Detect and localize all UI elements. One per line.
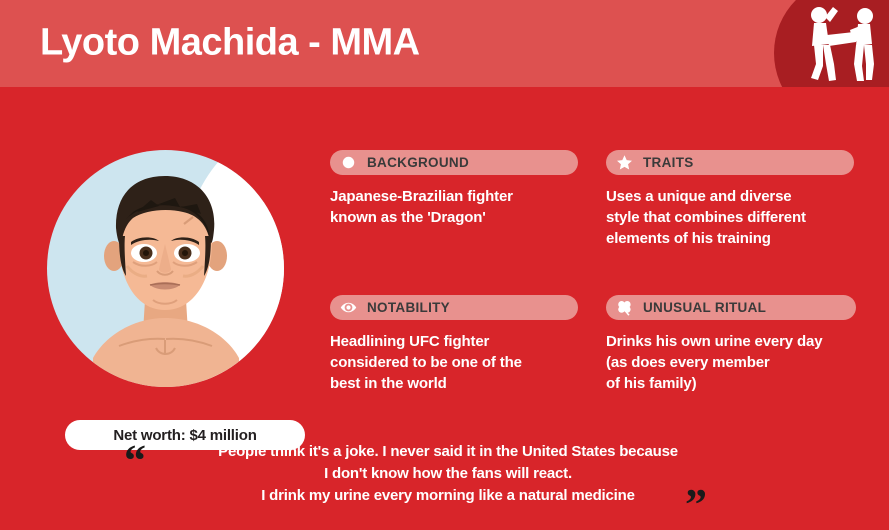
circle-icon (340, 154, 357, 171)
star-icon (616, 154, 633, 171)
fact-label-traits: TRAITS (643, 155, 694, 170)
page-title: Lyoto Machida - MMA (40, 21, 420, 64)
fact-card-unusual-ritual: UNUSUAL RITUAL Drinks his own urine ever… (606, 295, 856, 394)
fact-pill-traits: TRAITS (606, 150, 854, 175)
fact-label-background: BACKGROUND (367, 155, 469, 170)
portrait-illustration (47, 150, 284, 387)
fact-label-notability: NOTABILITY (367, 300, 450, 315)
quote-open-mark: “ (124, 439, 146, 483)
quote-text: People think it's a joke. I never said i… (168, 441, 728, 507)
fact-text-unusual-ritual: Drinks his own urine every day (as does … (606, 331, 856, 394)
fact-text-notability: Headlining UFC fighter considered to be … (330, 331, 580, 394)
quote-close-mark: ” (685, 483, 707, 527)
fact-text-background: Japanese-Brazilian fighter known as the … (330, 186, 580, 228)
fact-pill-background: BACKGROUND (330, 150, 578, 175)
fact-label-unusual-ritual: UNUSUAL RITUAL (643, 300, 766, 315)
fact-card-traits: TRAITS Uses a unique and diverse style t… (606, 150, 856, 249)
content-area: Net worth: $4 million BACKGROUND Japanes… (0, 87, 889, 530)
portrait-circle (47, 150, 284, 387)
page-header: Lyoto Machida - MMA (0, 0, 889, 87)
quote-block: “ People think it's a joke. I never said… (120, 437, 760, 522)
fact-card-notability: NOTABILITY Headlining UFC fighter consid… (330, 295, 580, 394)
fact-pill-notability: NOTABILITY (330, 295, 578, 320)
fact-text-traits: Uses a unique and diverse style that com… (606, 186, 856, 249)
fact-card-background: BACKGROUND Japanese-Brazilian fighter kn… (330, 150, 580, 228)
mma-fighters-icon (792, 2, 876, 86)
portrait: Net worth: $4 million (47, 150, 284, 387)
eye-icon (340, 299, 357, 316)
clover-icon (616, 299, 633, 316)
fact-pill-unusual-ritual: UNUSUAL RITUAL (606, 295, 856, 320)
